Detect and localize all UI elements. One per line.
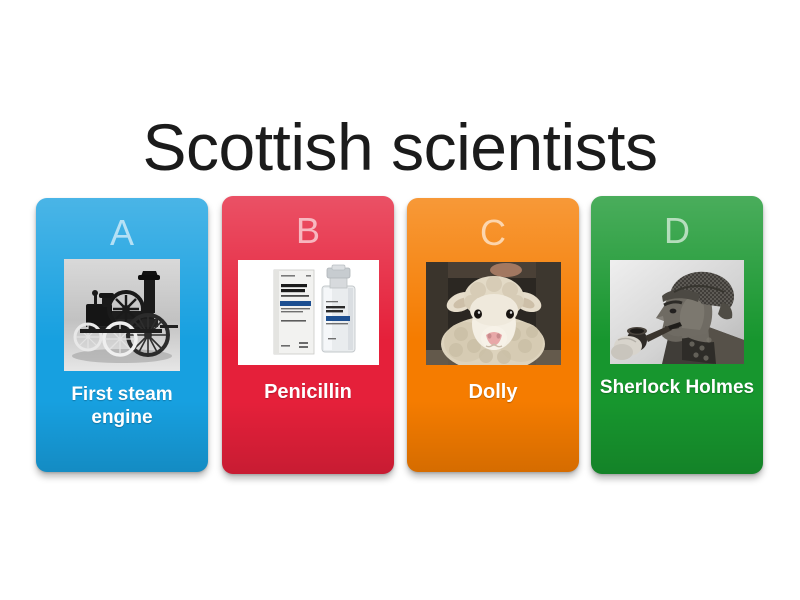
sherlock-holmes-photo <box>610 260 744 364</box>
card-letter-b: B <box>222 210 394 252</box>
card-label-a: First steam engine <box>36 383 208 429</box>
card-letter-d: D <box>591 210 763 252</box>
answer-card-b[interactable]: B <box>222 196 394 474</box>
card-letter-a: A <box>36 212 208 254</box>
steam-engine-photo <box>64 259 180 371</box>
card-label-c: Dolly <box>407 381 579 404</box>
dolly-sheep-photo <box>426 262 561 365</box>
answer-card-c[interactable]: C <box>407 198 579 472</box>
quiz-stage: Scottish scientists A <box>0 0 800 600</box>
card-label-b: Penicillin <box>222 381 394 404</box>
penicillin-vial-photo <box>238 260 379 365</box>
answer-card-d[interactable]: D <box>591 196 763 474</box>
answer-card-a[interactable]: A <box>36 198 208 472</box>
page-title: Scottish scientists <box>0 104 800 190</box>
card-label-d: Sherlock Holmes <box>591 376 763 399</box>
answer-card-row: A <box>0 194 800 484</box>
card-letter-c: C <box>407 212 579 254</box>
